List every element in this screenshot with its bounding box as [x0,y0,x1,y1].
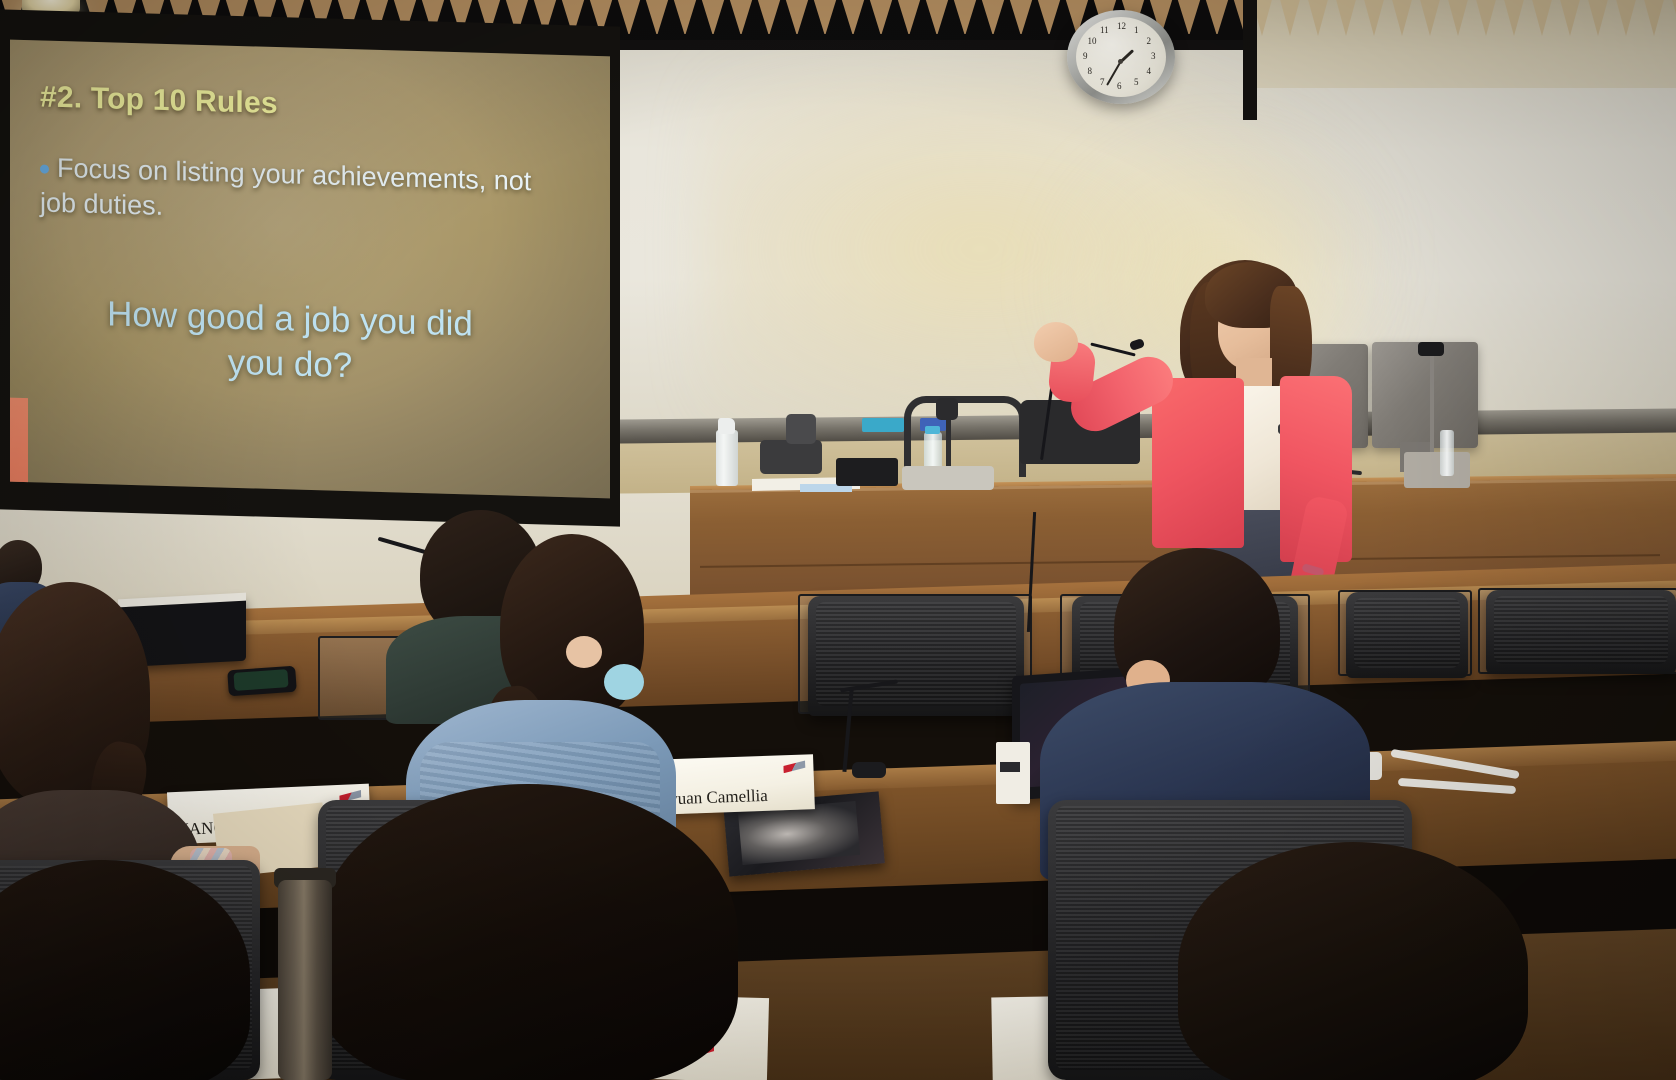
ceiling-baffle-fin [1418,0,1442,36]
ceiling-baffle-fin [1502,0,1526,36]
desk-card-logo [1000,762,1020,772]
ceiling-baffle-fin [1586,0,1610,36]
ceiling-baffle-fin [1474,0,1498,36]
ceiling-baffle-fin [1334,0,1358,36]
ceiling-baffle-fin [672,0,698,34]
podium-black-box [836,458,898,486]
ceiling-baffle-fin [980,0,1006,34]
ceiling-baffle-fin [1558,0,1582,36]
clock-numeral: 6 [1117,81,1122,91]
shelf-item-blue-box [862,418,904,432]
water-bottle-cap [925,426,940,434]
travel-tumbler [278,880,332,1080]
ceiling-baffle-fin [896,0,922,34]
face-mask-ear-loop [604,664,644,700]
gooseneck-mic-desk-base [852,762,886,778]
document-camera-base [902,466,994,490]
clock-center-pin [1118,59,1123,64]
smartphone-screen [233,669,288,691]
ceiling-baffle-fin [1670,0,1676,36]
slide-bullet-highlight: achievements [312,160,479,195]
chair-row2-edge [1486,590,1676,674]
webcam [1418,342,1444,356]
clock-numeral: 12 [1117,21,1126,31]
ceiling-baffle-fin [1362,0,1386,36]
clock-numeral: 8 [1088,66,1093,76]
ceiling-baffle-fin [1614,0,1638,36]
ceiling-baffle-fin [1306,0,1330,36]
podium-device-head [786,414,816,444]
chair-row2-center [808,596,1024,716]
clock-numeral: 5 [1134,77,1139,87]
monitor-right [1372,342,1478,448]
ceiling-baffle-fin [1036,0,1062,34]
ceiling-baffle-fin [1530,0,1554,36]
document-camera-head [936,398,958,420]
bullet-dot-icon [40,165,49,174]
ceiling-baffle-fin [1446,0,1470,36]
ceiling-baffle-fin [700,0,726,34]
placard-logo-icon [783,760,805,773]
speaker-jacket-left [1152,378,1244,548]
lecture-hall-photo: #2. Top 10 Rules Focus on listing your a… [0,0,1676,1080]
hand-sanitizer-bottle [716,430,738,486]
clock-numeral: 9 [1083,51,1088,61]
clock-numeral: 10 [1088,36,1097,46]
ceiling-baffle-fin [1008,0,1034,34]
audience-head-foreground-right [1178,842,1528,1080]
clock-face: 121234567891011 [1076,17,1166,97]
clock-numeral: 7 [1100,77,1105,87]
acoustic-baffle-ceiling-right [1250,0,1676,40]
clock-numeral: 11 [1100,25,1109,35]
ceiling-baffle-fin [756,0,782,34]
ceiling-vertical-trim [1243,0,1257,120]
ceiling-baffle-fin [1642,0,1666,36]
ceiling-baffle-fin [784,0,810,34]
chair-mesh [1494,596,1668,664]
chair-row2-far-right [1346,592,1468,678]
chair-mesh [1354,598,1460,668]
ceiling-baffle-fin [812,0,838,34]
ceiling-baffle-fin [728,0,754,34]
audience-head-foreground-center [318,784,738,1080]
ceiling-baffle-fin [840,0,866,34]
slide-question: How good a job you did you do? [40,290,540,394]
ceiling-baffle-fin [924,0,950,34]
presentation-slide: #2. Top 10 Rules Focus on listing your a… [10,40,610,499]
podium-device-body [760,440,822,474]
speaker-raised-hand [1034,322,1078,362]
clock-numeral: 2 [1146,36,1151,46]
ceiling-baffle-fin [1390,0,1414,36]
slide-title: #2. Top 10 Rules [40,80,278,121]
wall-clock: 121234567891011 [1067,10,1177,106]
monitor-base-plate [1404,452,1470,488]
slide-bullet-item: Focus on listing your achievements, not … [40,150,560,234]
desk-card-right [996,742,1030,804]
clock-numeral: 1 [1134,25,1139,35]
hand-sanitizer-pump [718,418,735,434]
audience-ear-center [566,636,602,668]
ceiling-baffle-fin [644,0,670,34]
slide-bullet-prefix: Focus on listing your [57,153,312,190]
podium-water-bottle-right [1440,430,1454,476]
ceiling-baffle-fin [868,0,894,34]
clock-numeral: 3 [1151,51,1156,61]
ceiling-baffle-fin [1204,0,1230,34]
ceiling-baffle-fin [1176,0,1202,34]
clock-numeral: 4 [1146,66,1151,76]
ceiling-baffle-fin [1278,0,1302,36]
document-camera-arch [904,396,1026,477]
ceiling-baffle-fin [952,0,978,34]
